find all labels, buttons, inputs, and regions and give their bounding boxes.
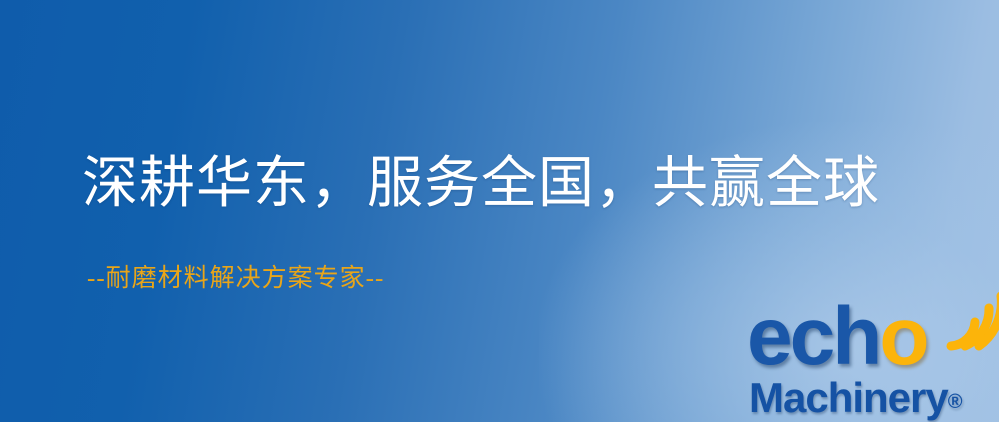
logo-wordmark: echo bbox=[745, 296, 999, 382]
registered-trademark-icon: ® bbox=[948, 391, 963, 413]
banner-headline: 深耕华东，服务全国，共赢全球 bbox=[82, 156, 880, 212]
logo-word-ech: ech bbox=[747, 291, 879, 382]
banner-subtitle: --耐磨材料解决方案专家-- bbox=[87, 266, 384, 291]
hero-banner: 深耕华东，服务全国，共赢全球 --耐磨材料解决方案专家-- echo Machi… bbox=[0, 0, 999, 422]
logo-tagline-text: Machinery bbox=[749, 374, 948, 421]
echo-machinery-logo[interactable]: echo Machinery® bbox=[745, 296, 999, 422]
logo-tagline: Machinery® bbox=[749, 374, 963, 422]
signal-waves-icon bbox=[941, 292, 999, 354]
logo-word-echo: echo bbox=[747, 290, 926, 384]
logo-word-o: o bbox=[879, 291, 926, 382]
